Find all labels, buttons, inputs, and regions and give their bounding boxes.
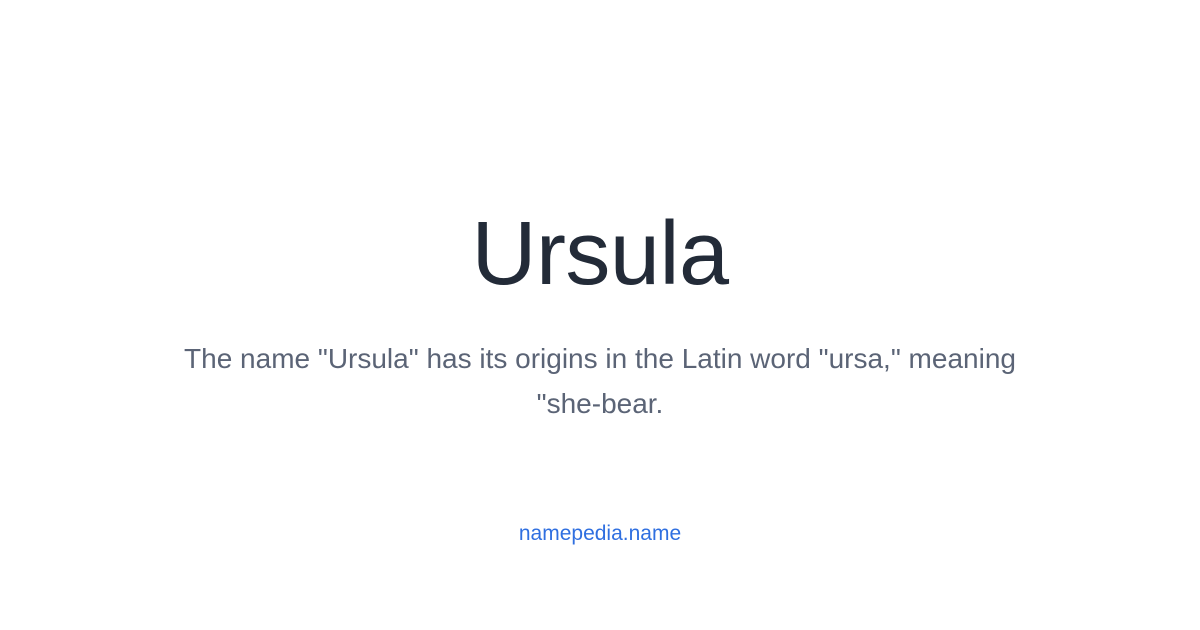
name-meaning-card: Ursula The name "Ursula" has its origins… [0, 0, 1200, 630]
page-title: Ursula [0, 206, 1200, 303]
site-link[interactable]: namepedia.name [519, 522, 681, 545]
footer: namepedia.name [0, 521, 1200, 547]
page-title-container: Ursula [0, 206, 1200, 303]
name-description-container: The name "Ursula" has its origins in the… [160, 336, 1040, 426]
name-description: The name "Ursula" has its origins in the… [160, 336, 1040, 426]
